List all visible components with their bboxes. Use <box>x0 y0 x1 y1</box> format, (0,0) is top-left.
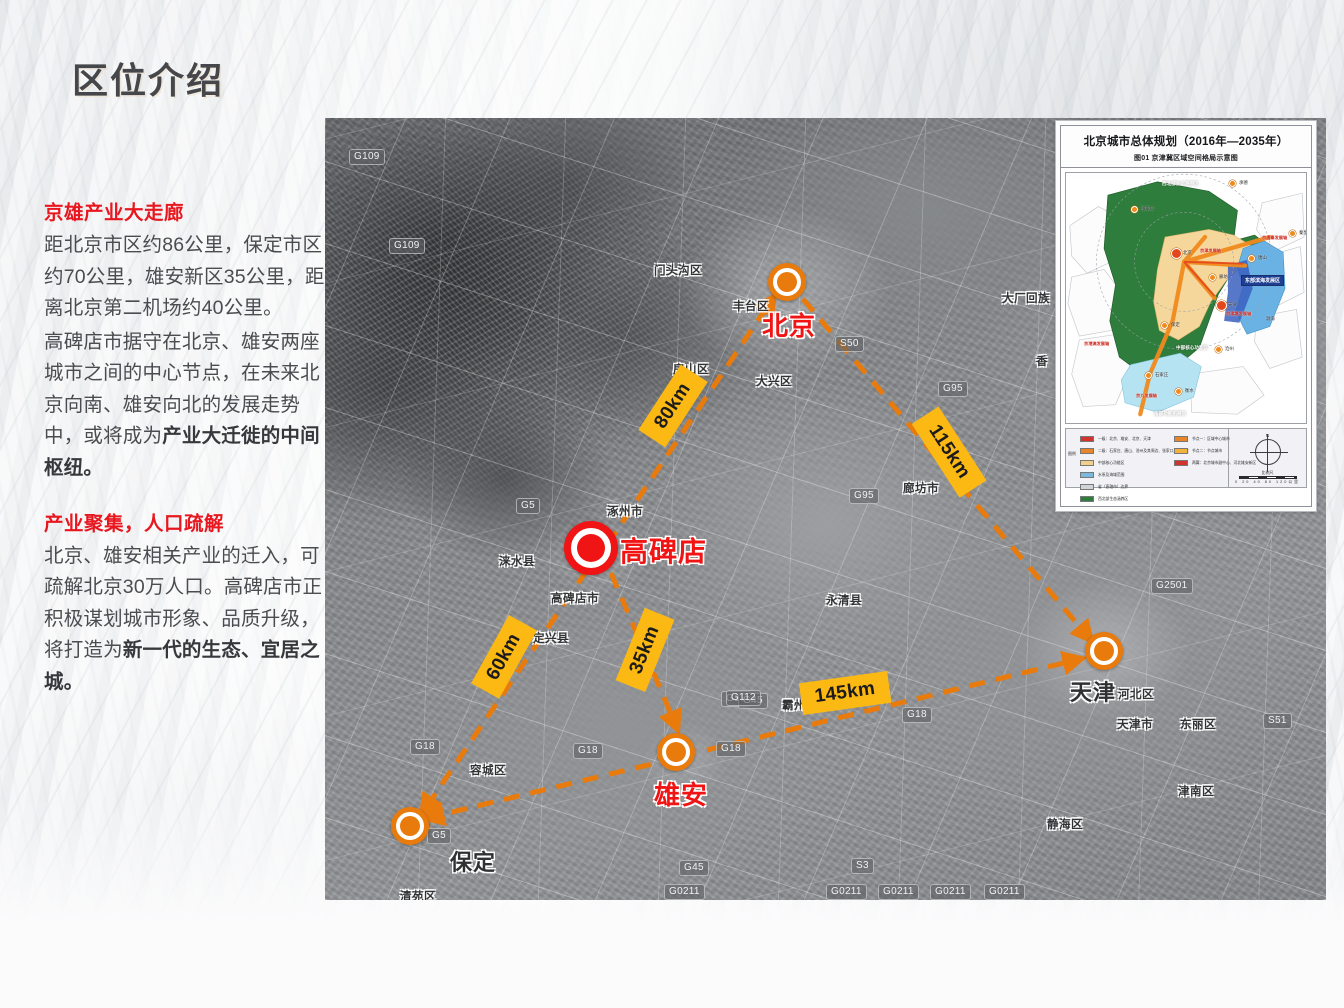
map-place-label: 高碑店市 <box>551 590 599 606</box>
inset-city-node <box>1131 206 1138 213</box>
legend-swatch <box>1080 448 1094 454</box>
city-marker-baoding[interactable] <box>391 807 429 845</box>
map-place-label: 津南区 <box>1178 783 1214 799</box>
highway-shield: G5 <box>516 498 540 514</box>
inset-city-label: 廊坊 <box>1219 274 1228 280</box>
text-section: 京雄产业大走廊距北京市区约86公里，保定市区约70公里，雄安新区35公里，距离北… <box>44 196 326 485</box>
map-place-label: 涿州市 <box>607 503 643 519</box>
legend-swatch <box>1080 484 1094 490</box>
inset-city-node <box>1215 346 1222 353</box>
legend-title: 图例 <box>1068 451 1076 457</box>
highway-shield: G112 <box>726 690 761 706</box>
section-heading: 京雄产业大走廊 <box>44 196 326 225</box>
legend-swatch <box>1080 496 1094 502</box>
highway-shield: G5 <box>427 828 451 844</box>
section-body: 北京、雄安相关产业的迁入，可疏解北京30万人口。高碑店市正积极谋划城市形象、品质… <box>44 541 326 699</box>
city-label-beijing: 北京 <box>762 306 816 343</box>
map-place-label: 大厂回族 <box>1002 290 1050 306</box>
inset-corridor-label: 京津发展轴 <box>1200 248 1221 254</box>
inset-city-node <box>1171 248 1182 259</box>
legend-column-right: 节点一：区域中心城市节点二：节点城市两翼：北京城市副中心、河北雄安新区 <box>1174 434 1253 470</box>
highway-shield: G0211 <box>930 884 971 900</box>
city-marker-tianjin[interactable] <box>1085 632 1123 670</box>
highway-shield: G18 <box>410 739 440 755</box>
legend-swatch <box>1174 436 1188 442</box>
highway-shield: G2501 <box>1151 578 1193 594</box>
highway-shield: G18 <box>902 707 932 723</box>
legend-text: 节点二：节点城市 <box>1192 448 1222 453</box>
map-place-label: 大兴区 <box>756 373 792 389</box>
city-label-baoding: 保定 <box>450 845 496 877</box>
inset-city-node <box>1209 274 1216 281</box>
city-label-tianjin: 天津 <box>1070 675 1116 707</box>
city-marker-xiongan[interactable] <box>657 733 695 771</box>
highway-shield: S51 <box>1263 713 1292 729</box>
map-place-label: 廊坊市 <box>903 480 939 496</box>
highway-shield: G18 <box>716 741 746 757</box>
highway-shield: G95 <box>938 381 968 397</box>
city-marker-beijing[interactable] <box>768 263 806 301</box>
map-place-label: 河北区 <box>1118 686 1154 702</box>
marker-dot <box>577 534 605 562</box>
scale-bar-graphic <box>1239 476 1297 479</box>
highway-shield: G109 <box>389 238 425 254</box>
highway-shield: G0211 <box>878 884 919 900</box>
marker-dot <box>777 272 797 292</box>
inset-city-node <box>1248 255 1255 262</box>
inset-city-node <box>1216 300 1227 311</box>
inset-zone-label: 南部功能拓展区 <box>1154 411 1186 417</box>
inset-map-svg <box>1066 173 1306 423</box>
map-place-label: 门头沟区 <box>654 262 702 278</box>
legend-swatch <box>1080 472 1094 478</box>
inset-city-label: 沧州 <box>1225 346 1234 352</box>
city-marker-gaobeidian[interactable] <box>564 521 618 575</box>
inset-city-label: 承德 <box>1239 180 1248 186</box>
legend-row: 节点一：区域中心城市 <box>1174 434 1253 444</box>
scale-bar: 比例尺 0 20 40 80 120公里 <box>1235 470 1300 485</box>
inset-border: 北京城市总体规划（2016年—2035年） 图01 京津冀区域空间格局示意图 <box>1060 125 1312 507</box>
marker-dot <box>666 742 686 762</box>
legend-row: 西北部生态涵养区 <box>1080 494 1184 504</box>
text-section: 产业聚集，人口疏解北京、雄安相关产业的迁入，可疏解北京30万人口。高碑店市正积极… <box>44 507 326 699</box>
page-title: 区位介绍 <box>72 52 224 104</box>
inset-blue-label: 东部滨海发展区 <box>1241 275 1284 286</box>
paragraph-text: 距北京市区约86公里，保定市区约70公里，雄安新区35公里，距离北京第二机场约4… <box>44 234 325 319</box>
highway-shield: S50 <box>835 336 864 352</box>
inset-city-label: 石家庄 <box>1155 372 1168 378</box>
paragraph: 距北京市区约86公里，保定市区约70公里，雄安新区35公里，距离北京第二机场约4… <box>44 230 326 325</box>
map-place-label: 清苑区 <box>400 888 436 900</box>
inset-city-node <box>1145 372 1152 379</box>
legend-row: 两翼：北京城市副中心、河北雄安新区 <box>1174 458 1253 468</box>
city-label-xiongan: 雄安 <box>654 775 708 812</box>
scale-bar-ticks: 0 20 40 80 120公里 <box>1235 480 1300 485</box>
map-place-label: 东丽区 <box>1180 716 1216 732</box>
legend-text: 省（直辖市）边界 <box>1098 484 1128 489</box>
inset-corridor-label: 京唐秦发展轴 <box>1262 235 1287 241</box>
legend-row: 二级：石家庄、唐山、沧州及其周边、张家口及其周边 <box>1080 446 1184 456</box>
inset-city-label: 保定 <box>1171 322 1180 328</box>
inset-city-label: 秦皇岛 <box>1299 230 1307 236</box>
paragraph: 高碑店市据守在北京、雄安两座城市之间的中心节点，在未来北京向南、雄安向北的发展走… <box>44 327 326 485</box>
city-label-gaobeidian: 高碑店 <box>620 530 707 570</box>
inset-subtitle: 图01 京津冀区域空间格局示意图 <box>1065 153 1307 163</box>
legend-text: 一级：北京、雄安、北京、天津 <box>1098 436 1151 441</box>
section-body: 距北京市区约86公里，保定市区约70公里，雄安新区35公里，距离北京第二机场约4… <box>44 230 326 485</box>
section-heading: 产业聚集，人口疏解 <box>44 507 326 536</box>
highway-shield: G109 <box>349 149 385 165</box>
paragraph: 北京、雄安相关产业的迁入，可疏解北京30万人口。高碑店市正积极谋划城市形象、品质… <box>44 541 326 699</box>
highway-shield: G0211 <box>826 884 867 900</box>
highway-shield: G0211 <box>664 884 705 900</box>
inset-title-bar: 北京城市总体规划（2016年—2035年） 图01 京津冀区域空间格局示意图 <box>1061 126 1311 168</box>
legend-text: 两翼：北京城市副中心、河北雄安新区 <box>1192 460 1256 465</box>
legend-row: 节点二：节点城市 <box>1174 446 1253 456</box>
map-place-label: 定兴县 <box>533 630 569 646</box>
legend-items: 一级：北京、雄安、北京、天津二级：石家庄、唐山、沧州及其周边、张家口及其周边中部… <box>1066 429 1228 487</box>
map-place-label: 永清县 <box>826 592 862 608</box>
legend-row: 省（直辖市）边界 <box>1080 482 1184 492</box>
inset-city-node <box>1175 388 1182 395</box>
highway-shield: G0211 <box>984 884 1025 900</box>
route-xiongan-baoding <box>427 758 677 818</box>
inset-corridor-label: 京津塘发展轴 <box>1226 311 1251 317</box>
inset-corridor-label: 京九发展轴 <box>1136 393 1157 399</box>
inset-title: 北京城市总体规划（2016年—2035年） <box>1065 133 1307 149</box>
map-place-label: 香 <box>1036 353 1048 369</box>
highway-shield: G18 <box>573 743 603 759</box>
compass-icon <box>1255 439 1281 465</box>
inset-city-label: 张家口 <box>1141 206 1154 212</box>
inset-city-label: 天津 <box>1228 302 1237 308</box>
legend-swatch <box>1080 460 1094 466</box>
left-text-column: 京雄产业大走廊距北京市区约86公里，保定市区约70公里，雄安新区35公里，距离北… <box>44 196 326 721</box>
legend-text: 中部核心功能区 <box>1098 460 1124 465</box>
marker-dot <box>1094 641 1114 661</box>
inset-city-label: 北京 <box>1183 250 1192 256</box>
highway-shield: S3 <box>851 858 874 874</box>
map-place-label: 涞水县 <box>499 553 535 569</box>
highway-shield: G45 <box>679 860 709 876</box>
map-place-label: 天津市 <box>1117 716 1153 732</box>
inset-corridor-label: 京港澳发展轴 <box>1084 341 1109 347</box>
inset-map-area: 西北部生态涵养区中部核心功能区南部功能拓展区东部滨海发展区京津发展轴京唐秦发展轴… <box>1065 172 1307 424</box>
inset-legend: 一级：北京、雄安、北京、天津二级：石家庄、唐山、沧州及其周边、张家口及其周边中部… <box>1065 428 1307 488</box>
legend-row: 一级：北京、雄安、北京、天津 <box>1080 434 1184 444</box>
map-place-label: 容城区 <box>470 762 506 778</box>
highway-shield: G95 <box>849 488 879 504</box>
legend-swatch <box>1174 460 1188 466</box>
inset-zone-label: 中部核心功能区 <box>1176 345 1208 351</box>
map-place-label: 静海区 <box>1047 816 1083 832</box>
inset-city-node <box>1229 180 1236 187</box>
inset-city-node <box>1289 230 1296 237</box>
inset-zone-label: 西北部生态涵养区 <box>1162 181 1199 187</box>
marker-dot <box>400 816 420 836</box>
legend-text: 西北部生态涵养区 <box>1098 496 1128 501</box>
inset-city-node <box>1161 322 1168 329</box>
inset-plan-map[interactable]: 北京城市总体规划（2016年—2035年） 图01 京津冀区域空间格局示意图 <box>1055 120 1317 512</box>
legend-swatch <box>1080 436 1094 442</box>
legend-row: 水系及海域范围 <box>1080 470 1184 480</box>
legend-text: 水系及海域范围 <box>1098 472 1124 477</box>
inset-city-label: 渤海 <box>1266 316 1275 322</box>
inset-city-label: 衡水 <box>1185 388 1194 394</box>
legend-text: 节点一：区域中心城市 <box>1192 436 1230 441</box>
inset-city-label: 唐山 <box>1258 255 1267 261</box>
legend-swatch <box>1174 448 1188 454</box>
legend-row: 中部核心功能区 <box>1080 458 1184 468</box>
legend-column-left: 一级：北京、雄安、北京、天津二级：石家庄、唐山、沧州及其周边、张家口及其周边中部… <box>1080 434 1184 506</box>
